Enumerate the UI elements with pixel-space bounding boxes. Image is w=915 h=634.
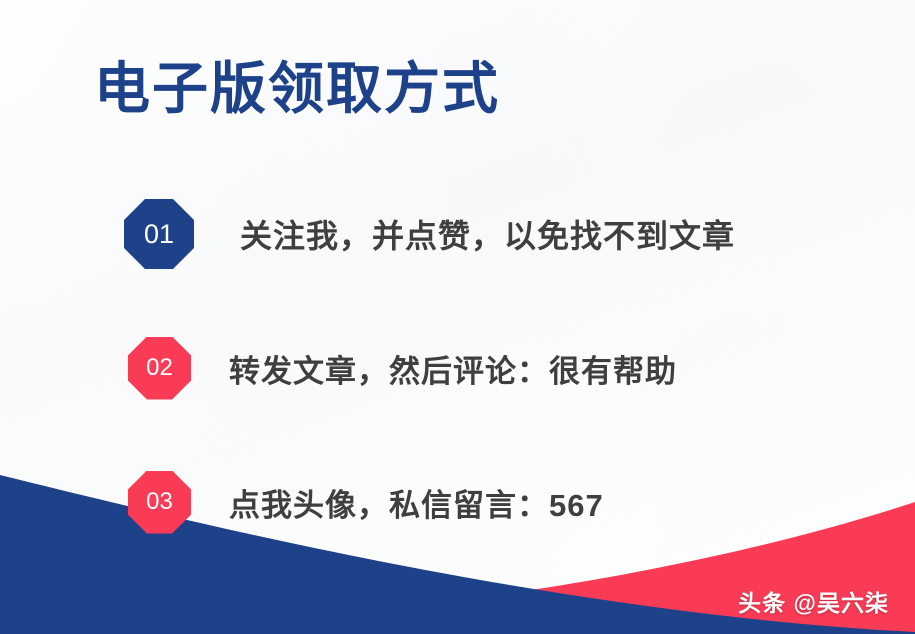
step-text-03: 点我头像，私信留言：567 xyxy=(191,480,604,525)
page-title: 电子版领取方式 xyxy=(94,57,500,121)
list-item: 03 点我头像，私信留言：567 xyxy=(0,454,915,550)
step-text-01: 关注我，并点赞，以免找不到文章 xyxy=(194,211,735,257)
step-number-label: 03 xyxy=(146,488,173,516)
list-item: 01 关注我，并点赞，以免找不到文章 xyxy=(0,186,915,282)
step-number-label: 02 xyxy=(146,354,173,382)
steps-list: 01 关注我，并点赞，以免找不到文章 02 转发文章，然后评论：很有帮助 03 … xyxy=(0,186,915,588)
step-text-02: 转发文章，然后评论：很有帮助 xyxy=(191,346,677,391)
step-number-label: 01 xyxy=(144,219,174,250)
step-badge-02: 02 xyxy=(128,337,191,400)
slide-canvas: 电子版领取方式 01 关注我，并点赞，以免找不到文章 02 转发文章，然后评论：… xyxy=(0,0,915,634)
list-item: 02 转发文章，然后评论：很有帮助 xyxy=(0,320,915,416)
watermark-label: 头条 @吴六柒 xyxy=(738,584,889,618)
step-badge-01: 01 xyxy=(124,199,194,269)
step-badge-03: 03 xyxy=(128,471,191,534)
